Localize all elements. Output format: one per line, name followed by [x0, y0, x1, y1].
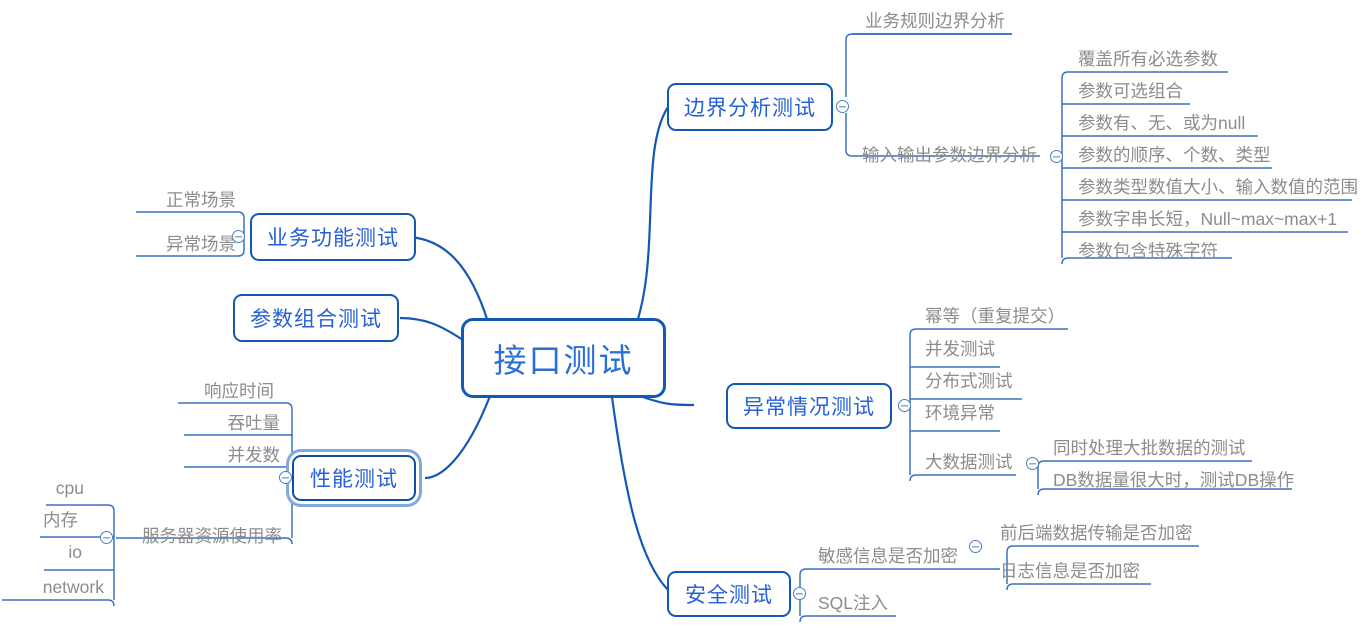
leaf-response-time[interactable]: 响应时间	[90, 382, 274, 401]
leaf-param-null-states[interactable]: 参数有、无、或为null	[1078, 114, 1245, 133]
branch-node-label: 参数组合测试	[250, 303, 382, 333]
leaf-param-value-range[interactable]: 参数类型数值大小、输入数值的范围	[1078, 178, 1358, 197]
leaf-sensitive-info-encrypted[interactable]: 敏感信息是否加密	[818, 547, 958, 566]
minus-circle-icon-bigdata[interactable]	[1026, 457, 1039, 470]
leaf-io[interactable]: io	[0, 543, 82, 562]
leaf-distributed-test[interactable]: 分布式测试	[925, 372, 1013, 391]
leaf-normal-scenario[interactable]: 正常场景	[46, 191, 236, 210]
branch-node-performance[interactable]: 性能测试	[292, 455, 416, 501]
leaf-frontend-backend-transfer-encrypted[interactable]: 前后端数据传输是否加密	[1000, 524, 1193, 543]
minus-circle-icon-sensitive-info[interactable]	[969, 540, 982, 553]
minus-circle-icon-boundary[interactable]	[836, 100, 849, 113]
leaf-log-info-encrypted[interactable]: 日志信息是否加密	[1000, 562, 1140, 581]
leaf-batch-data-test[interactable]: 同时处理大批数据的测试	[1053, 439, 1246, 458]
leaf-db-large-volume-test[interactable]: DB数据量很大时，测试DB操作	[1053, 471, 1294, 490]
leaf-param-order-count-type[interactable]: 参数的顺序、个数、类型	[1078, 146, 1271, 165]
leaf-io-param-boundary[interactable]: 输入输出参数边界分析	[862, 146, 1037, 165]
leaf-cpu[interactable]: cpu	[0, 479, 84, 498]
leaf-param-string-length[interactable]: 参数字串长短，Null~max~max+1	[1078, 210, 1337, 229]
branch-node-business[interactable]: 业务功能测试	[250, 213, 416, 261]
leaf-cover-required-params[interactable]: 覆盖所有必选参数	[1078, 50, 1218, 69]
leaf-abnormal-scenario[interactable]: 异常场景	[46, 235, 236, 254]
leaf-business-rule-boundary[interactable]: 业务规则边界分析	[865, 12, 1005, 31]
branch-node-security[interactable]: 安全测试	[667, 571, 791, 617]
leaf-concurrency[interactable]: 并发数	[90, 446, 280, 465]
minus-circle-icon-server-resource[interactable]	[100, 531, 113, 544]
branch-node-label: 边界分析测试	[684, 92, 816, 122]
minus-circle-icon-security[interactable]	[793, 587, 806, 600]
branch-node-label: 异常情况测试	[743, 391, 875, 421]
minus-circle-icon-performance[interactable]	[279, 471, 292, 484]
branch-node-exception[interactable]: 异常情况测试	[726, 383, 892, 429]
root-node-label: 接口测试	[494, 334, 634, 382]
leaf-env-abnormal[interactable]: 环境异常	[925, 404, 995, 423]
leaf-optional-param-combo[interactable]: 参数可选组合	[1078, 82, 1183, 101]
branch-node-label: 安全测试	[685, 579, 773, 609]
branch-node-paramcombo[interactable]: 参数组合测试	[233, 294, 399, 342]
leaf-concurrent-test[interactable]: 并发测试	[925, 340, 995, 359]
leaf-sql-injection[interactable]: SQL注入	[818, 594, 888, 613]
leaf-memory[interactable]: 内存	[0, 511, 78, 530]
leaf-idempotent[interactable]: 幂等（重复提交）	[925, 307, 1065, 326]
branch-node-label: 业务功能测试	[267, 222, 399, 252]
leaf-network[interactable]: network	[0, 578, 104, 597]
leaf-param-special-chars[interactable]: 参数包含特殊字符	[1078, 242, 1218, 261]
branch-node-label: 性能测试	[310, 463, 398, 493]
minus-circle-icon-exception[interactable]	[898, 399, 911, 412]
mindmap-canvas: 接口测试 边界分析测试 业务规则边界分析 输入输出参数边界分析 覆盖所有必选参数…	[0, 0, 1365, 634]
leaf-bigdata-test[interactable]: 大数据测试	[925, 453, 1013, 472]
root-node[interactable]: 接口测试	[461, 318, 666, 398]
branch-node-boundary[interactable]: 边界分析测试	[667, 83, 833, 131]
leaf-throughput[interactable]: 吞吐量	[90, 414, 280, 433]
minus-circle-icon-io-param[interactable]	[1050, 150, 1063, 163]
leaf-server-resource-usage[interactable]: 服务器资源使用率	[118, 527, 282, 546]
